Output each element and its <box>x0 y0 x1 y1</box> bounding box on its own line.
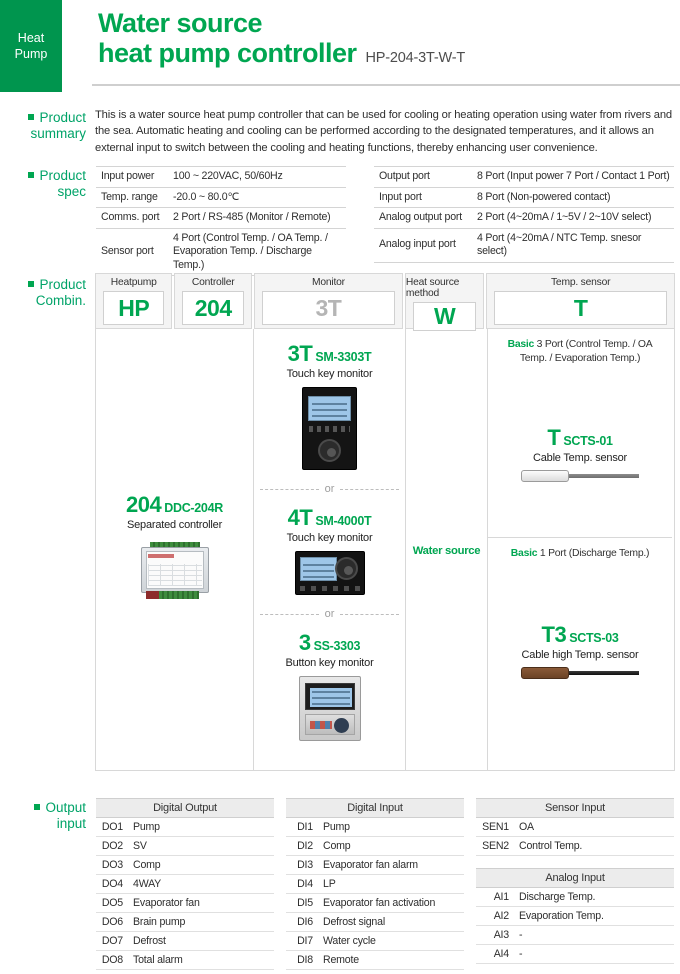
sensor-sub-cell-basic1: Basic 1 Port (Discharge Temp.) T3SCTS-03… <box>488 538 672 770</box>
monitor-heading: 3SS-3303 <box>254 630 405 656</box>
table-row: DI4LP <box>286 875 464 894</box>
code-box: 204 <box>182 291 243 325</box>
spec-left-body: Input power100 ~ 220VAC, 50/60Hz Temp. r… <box>96 167 346 276</box>
row-index: AI2 <box>476 907 516 926</box>
monitor-model: SM-3303T <box>315 350 371 364</box>
spec-key: Sensor port <box>96 228 168 276</box>
table-row: Sensor port4 Port (Control Temp. / OA Te… <box>96 228 346 276</box>
spec-value: 100 ~ 220VAC, 50/60Hz <box>168 167 346 188</box>
bullet-icon <box>28 114 34 120</box>
row-name: Pump <box>130 818 274 837</box>
table-header-row: Digital Input <box>286 799 464 818</box>
spec-label-line-1: Product <box>39 168 86 183</box>
code-box: T <box>494 291 667 325</box>
table-header-row: Digital Output <box>96 799 274 818</box>
controller-item: 204DDC-204R Separated controller <box>96 492 253 601</box>
code-value: 3T <box>315 295 341 322</box>
table-row: Input port8 Port (Non-powered contact) <box>374 187 674 208</box>
page-header: Heat Pump Water source heat pump control… <box>0 0 680 92</box>
table-row: AI2Evaporation Temp. <box>476 907 674 926</box>
table-row: DO3Comp <box>96 856 274 875</box>
table-title: Digital Output <box>96 799 274 818</box>
table-row: DO8Total alarm <box>96 951 274 970</box>
code-box: HP <box>103 291 164 325</box>
code-value: W <box>434 303 455 330</box>
row-name: - <box>516 926 674 945</box>
table-row: AI3- <box>476 926 674 945</box>
sensor-code: T3 <box>542 622 567 647</box>
temp-sensor-cell: Basic 3 Port (Control Temp. / OA Temp. /… <box>488 329 672 770</box>
section-label-product-spec: Product spec <box>8 168 86 199</box>
spec-table-left: Input power100 ~ 220VAC, 50/60Hz Temp. r… <box>96 166 346 276</box>
combination-column-heat-source: Heat source method W <box>405 273 484 329</box>
row-name: Pump <box>320 818 464 837</box>
heat-source-label: Water source <box>406 545 487 557</box>
row-name: Control Temp. <box>516 837 674 856</box>
table-row: DO2SV <box>96 837 274 856</box>
sensor-model: SCTS-01 <box>563 434 612 448</box>
row-name: Evaporation Temp. <box>516 907 674 926</box>
row-index: DO4 <box>96 875 130 894</box>
row-name: Remote <box>320 951 464 970</box>
table-row: Input power100 ~ 220VAC, 50/60Hz <box>96 167 346 188</box>
sensor-sub-cell-basic3: Basic 3 Port (Control Temp. / OA Temp. /… <box>488 329 672 538</box>
output-label-line-2: input <box>8 816 86 832</box>
spec-value: 8 Port (Input power 7 Port / Contact 1 P… <box>472 167 674 188</box>
code-box: W <box>413 302 476 331</box>
spec-key: Comms. port <box>96 208 168 229</box>
combination-label-line-2: Combin. <box>8 293 86 309</box>
monitor-model: SM-4000T <box>315 514 371 528</box>
column-label: Heat source method <box>406 277 483 299</box>
ss-3303-monitor-image <box>299 676 361 741</box>
row-index: SEN1 <box>476 818 516 837</box>
spec-right-body: Output port8 Port (Input power 7 Port / … <box>374 167 674 263</box>
row-index: DI5 <box>286 894 320 913</box>
spec-key: Analog output port <box>374 208 472 229</box>
row-index: DO8 <box>96 951 130 970</box>
row-index: DI2 <box>286 837 320 856</box>
monitor-cell: 3TSM-3303T Touch key monitor or 4TSM-400… <box>254 329 406 770</box>
row-index: DI7 <box>286 932 320 951</box>
table-row: Analog output port2 Port (4~20mA / 1~5V … <box>374 208 674 229</box>
product-summary-text: This is a water source heat pump control… <box>95 107 673 156</box>
sensor-sub: Cable Temp. sensor <box>488 452 672 464</box>
digital-output-table: Digital Output DO1Pump DO2SV DO3Comp DO4… <box>96 798 274 970</box>
monitor-code: 3T <box>288 341 313 366</box>
section-label-output-input: Output input <box>8 800 86 831</box>
row-name: Water cycle <box>320 932 464 951</box>
row-name: 4WAY <box>130 875 274 894</box>
column-label: Temp. sensor <box>551 277 610 288</box>
summary-label-line-1: Product <box>39 110 86 125</box>
row-name: Evaporator fan alarm <box>320 856 464 875</box>
column-label: Controller <box>192 277 235 288</box>
or-label: or <box>319 608 341 620</box>
row-name: Defrost signal <box>320 913 464 932</box>
row-name: Discharge Temp. <box>516 888 674 907</box>
controller-heading: 204DDC-204R <box>96 492 253 518</box>
combination-column-monitor: Monitor 3T <box>254 273 403 329</box>
header-divider <box>92 84 680 86</box>
table-row: DI7Water cycle <box>286 932 464 951</box>
sm-3303t-monitor-image <box>302 387 357 470</box>
or-divider-2: or <box>254 608 405 620</box>
row-index: AI4 <box>476 945 516 964</box>
row-name: Comp <box>320 837 464 856</box>
page-title-line-1: Water source <box>98 8 673 38</box>
table-title: Sensor Input <box>476 799 674 818</box>
monitor-sub: Touch key monitor <box>254 532 405 544</box>
spec-table-right: Output port8 Port (Input power 7 Port / … <box>374 166 674 263</box>
table-header-row: Sensor Input <box>476 799 674 818</box>
bullet-icon <box>34 804 40 810</box>
monitor-code: 4T <box>288 505 313 530</box>
spec-value: 4 Port (Control Temp. / OA Temp. / Evapo… <box>168 228 346 276</box>
monitor-model: SS-3303 <box>314 639 361 653</box>
sensor-code: T <box>547 425 560 450</box>
row-name: Brain pump <box>130 913 274 932</box>
row-index: DO3 <box>96 856 130 875</box>
combination-header-row: Heatpump HP Controller 204 Monitor 3T He… <box>95 273 675 329</box>
spec-key: Temp. range <box>96 187 168 208</box>
controller-sub: Separated controller <box>96 519 253 531</box>
spec-key: Input port <box>374 187 472 208</box>
table-row: Comms. port2 Port / RS-485 (Monitor / Re… <box>96 208 346 229</box>
or-label: or <box>319 483 341 495</box>
row-name: Evaporator fan <box>130 894 274 913</box>
table-row: DI1Pump <box>286 818 464 837</box>
table-row: DO7Defrost <box>96 932 274 951</box>
table-row: DO44WAY <box>96 875 274 894</box>
combination-column-heatpump: Heatpump HP <box>95 273 172 329</box>
product-combination-diagram: Heatpump HP Controller 204 Monitor 3T He… <box>95 273 675 773</box>
code-value: HP <box>118 295 149 322</box>
or-divider-1: or <box>254 483 405 495</box>
table-row: AI1Discharge Temp. <box>476 888 674 907</box>
tag-line-1: Heat <box>18 30 44 46</box>
table-row: DO1Pump <box>96 818 274 837</box>
monitor-sub: Button key monitor <box>254 657 405 669</box>
bullet-icon <box>28 172 34 178</box>
sensor-port-note: Basic 1 Port (Discharge Temp.) <box>488 538 672 561</box>
row-index: DO2 <box>96 837 130 856</box>
row-index: DO1 <box>96 818 130 837</box>
row-index: DI3 <box>286 856 320 875</box>
row-index: AI3 <box>476 926 516 945</box>
row-index: DO6 <box>96 913 130 932</box>
tag-line-2: Pump <box>15 46 48 62</box>
combination-label-line-1: Product <box>39 277 86 292</box>
table-row: DI8Remote <box>286 951 464 970</box>
table-row: DO6Brain pump <box>96 913 274 932</box>
controller-code: 204 <box>126 492 161 517</box>
row-index: AI1 <box>476 888 516 907</box>
table-title: Digital Input <box>286 799 464 818</box>
digital-input-table: Digital Input DI1Pump DI2Comp DI3Evapora… <box>286 798 464 970</box>
controller-model: DDC-204R <box>164 501 223 515</box>
combination-body: 204DDC-204R Separated controller 3TSM-3 <box>95 329 675 771</box>
sensor-port-note: Basic 3 Port (Control Temp. / OA Temp. /… <box>488 329 672 365</box>
row-name: Defrost <box>130 932 274 951</box>
monitor-item-3: 3SS-3303 Button key monitor <box>254 620 405 741</box>
table-title: Analog Input <box>476 869 674 888</box>
heat-pump-category-tag: Heat Pump <box>0 0 62 92</box>
heat-source-cell: Water source <box>406 329 488 770</box>
table-row: DO5Evaporator fan <box>96 894 274 913</box>
spec-value: -20.0 ~ 80.0℃ <box>168 187 346 208</box>
monitor-sub: Touch key monitor <box>254 368 405 380</box>
table-header-row: Analog Input <box>476 869 674 888</box>
spec-value: 4 Port (4~20mA / NTC Temp. snesor select… <box>472 228 674 262</box>
basic-detail: 3 Port (Control Temp. / OA Temp. / Evapo… <box>520 339 653 364</box>
table-row: Analog input port4 Port (4~20mA / NTC Te… <box>374 228 674 262</box>
sm-4000t-monitor-image <box>295 551 365 595</box>
table-row: AI4- <box>476 945 674 964</box>
sensor-heading: T3SCTS-03 <box>488 622 672 648</box>
sensor-sub: Cable high Temp. sensor <box>488 649 672 661</box>
title-block: Water source heat pump controller HP-204… <box>98 8 673 69</box>
row-name: Total alarm <box>130 951 274 970</box>
spec-value: 2 Port / RS-485 (Monitor / Remote) <box>168 208 346 229</box>
monitor-heading: 4TSM-4000T <box>254 505 405 531</box>
basic-keyword: Basic <box>508 339 534 350</box>
monitor-heading: 3TSM-3303T <box>254 341 405 367</box>
page-title-line-2: heat pump controller <box>98 38 357 69</box>
table-row: SEN1OA <box>476 818 674 837</box>
row-index: DO5 <box>96 894 130 913</box>
code-value: 204 <box>195 295 232 322</box>
basic-detail: 1 Port (Discharge Temp.) <box>537 548 649 559</box>
ddc-controller-image <box>137 539 213 601</box>
spec-key: Output port <box>374 167 472 188</box>
table-row: Output port8 Port (Input power 7 Port / … <box>374 167 674 188</box>
analog-input-table: Analog Input AI1Discharge Temp. AI2Evapo… <box>476 868 674 964</box>
row-index: DI8 <box>286 951 320 970</box>
model-number: HP-204-3T-W-T <box>366 50 465 66</box>
combination-column-temp-sensor: Temp. sensor T <box>486 273 675 329</box>
column-label: Heatpump <box>111 277 157 288</box>
code-box: 3T <box>262 291 395 325</box>
scts-01-sensor-image <box>521 470 639 482</box>
scts-03-sensor-image <box>521 667 639 679</box>
basic-keyword: Basic <box>511 548 537 559</box>
row-index: DI1 <box>286 818 320 837</box>
row-name: Evaporator fan activation <box>320 894 464 913</box>
combination-column-controller: Controller 204 <box>174 273 251 329</box>
bullet-icon <box>28 281 34 287</box>
row-name: OA <box>516 818 674 837</box>
row-name: LP <box>320 875 464 894</box>
row-name: - <box>516 945 674 964</box>
row-name: SV <box>130 837 274 856</box>
table-row: DI6Defrost signal <box>286 913 464 932</box>
output-label-line-1: Output <box>45 800 86 815</box>
sensor-input-table: Sensor Input SEN1OA SEN2Control Temp. <box>476 798 674 856</box>
sensor-model: SCTS-03 <box>569 631 618 645</box>
spec-label-line-2: spec <box>8 184 86 200</box>
table-row: DI5Evaporator fan activation <box>286 894 464 913</box>
table-row: DI3Evaporator fan alarm <box>286 856 464 875</box>
spec-value: 2 Port (4~20mA / 1~5V / 2~10V select) <box>472 208 674 229</box>
sensor-item-t3: T3SCTS-03 Cable high Temp. sensor <box>488 622 672 679</box>
summary-label-line-2: summary <box>8 126 86 142</box>
monitor-item-3t: 3TSM-3303T Touch key monitor <box>254 329 405 470</box>
sensor-heading: TSCTS-01 <box>488 425 672 451</box>
monitor-code: 3 <box>299 630 311 655</box>
spec-value: 8 Port (Non-powered contact) <box>472 187 674 208</box>
sensor-item-t: TSCTS-01 Cable Temp. sensor <box>488 425 672 482</box>
row-name: Comp <box>130 856 274 875</box>
section-label-product-combination: Product Combin. <box>8 277 86 308</box>
table-row: Temp. range-20.0 ~ 80.0℃ <box>96 187 346 208</box>
table-row: DI2Comp <box>286 837 464 856</box>
row-index: DI6 <box>286 913 320 932</box>
row-index: DO7 <box>96 932 130 951</box>
spec-key: Input power <box>96 167 168 188</box>
controller-cell: 204DDC-204R Separated controller <box>96 329 254 770</box>
monitor-item-4t: 4TSM-4000T Touch key monitor <box>254 495 405 595</box>
row-index: SEN2 <box>476 837 516 856</box>
spec-key: Analog input port <box>374 228 472 262</box>
table-row: SEN2Control Temp. <box>476 837 674 856</box>
code-value: T <box>574 295 588 322</box>
section-label-product-summary: Product summary <box>8 110 86 141</box>
row-index: DI4 <box>286 875 320 894</box>
column-label: Monitor <box>312 277 345 288</box>
